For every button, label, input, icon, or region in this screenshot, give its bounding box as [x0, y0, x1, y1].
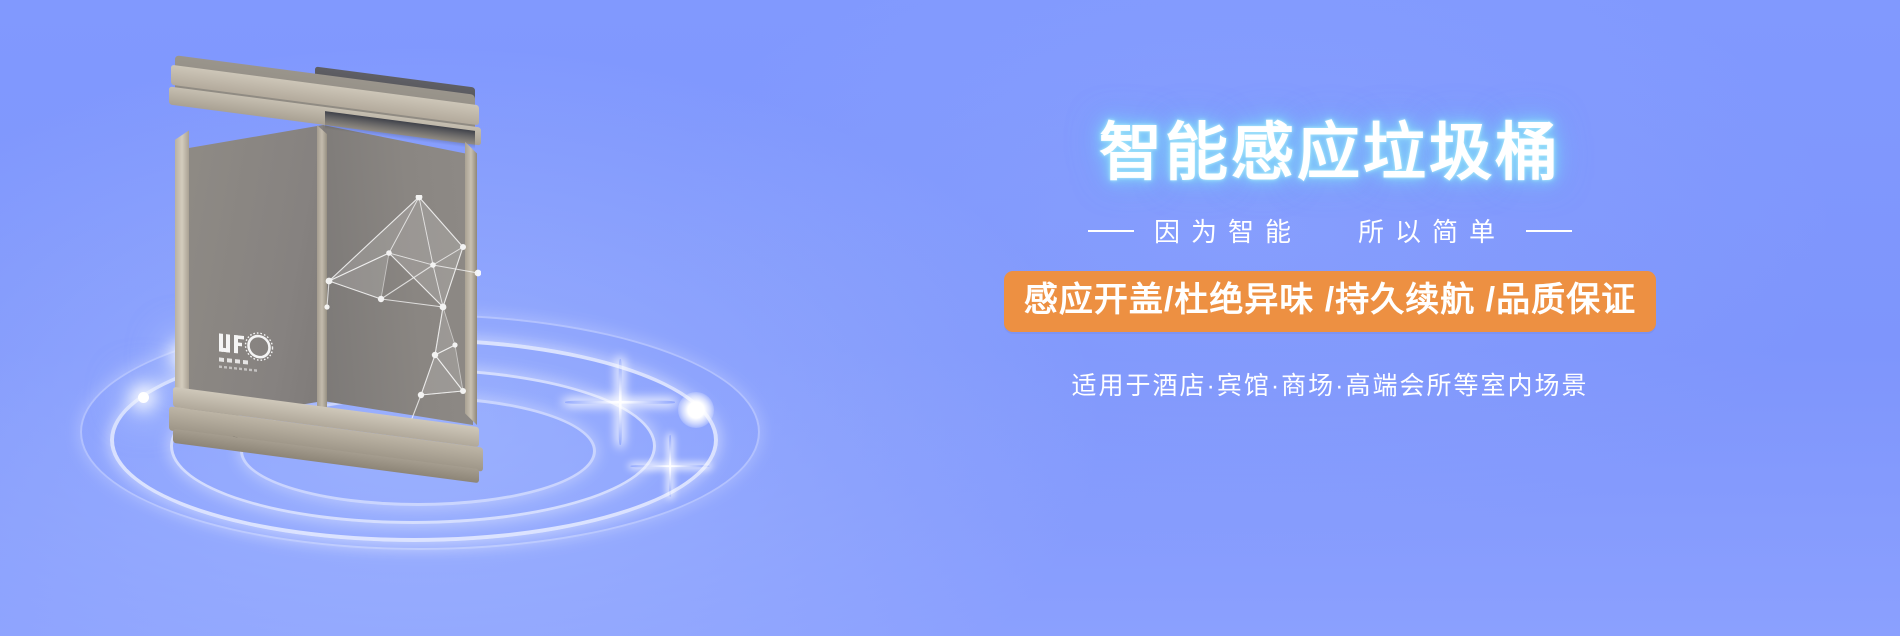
feature-highlight-bar: 感应开盖/杜绝异味 /持久续航 /品质保证: [1004, 271, 1656, 332]
polygon-mesh-graphic: [323, 195, 481, 431]
dash-right-icon: [1526, 230, 1572, 232]
sparkle-star-2: [669, 465, 672, 468]
dash-left-icon: [1088, 230, 1134, 232]
trash-bin-product: [165, 55, 495, 455]
ufo-brand-logo: [217, 327, 289, 383]
headline: 智能感应垃圾桶: [890, 120, 1770, 186]
bin-edge-left: [175, 121, 189, 433]
sparkle-star-1: [618, 400, 622, 404]
usage-scenarios-text: 适用于酒店·宾馆·商场·高端会所等室内场景: [890, 366, 1770, 402]
glow-orb: [678, 392, 714, 428]
feature-bar-text: 感应开盖/杜绝异味 /持久续航 /品质保证: [1024, 281, 1636, 320]
copy-block: 智能感应垃圾桶 因为智能 所以简单 感应开盖/杜绝异味 /持久续航 /品质保证 …: [890, 120, 1770, 402]
glow-dot-2: [138, 392, 149, 403]
bin-body-left-face: [183, 125, 323, 425]
product-scene: [60, 20, 780, 620]
product-promo-banner: 智能感应垃圾桶 因为智能 所以简单 感应开盖/杜绝异味 /持久续航 /品质保证 …: [0, 0, 1900, 636]
subheadline: 因为智能 所以简单: [890, 212, 1770, 249]
subheadline-part-2: 所以简单: [1358, 212, 1506, 249]
subheadline-part-1: 因为智能: [1154, 212, 1302, 249]
